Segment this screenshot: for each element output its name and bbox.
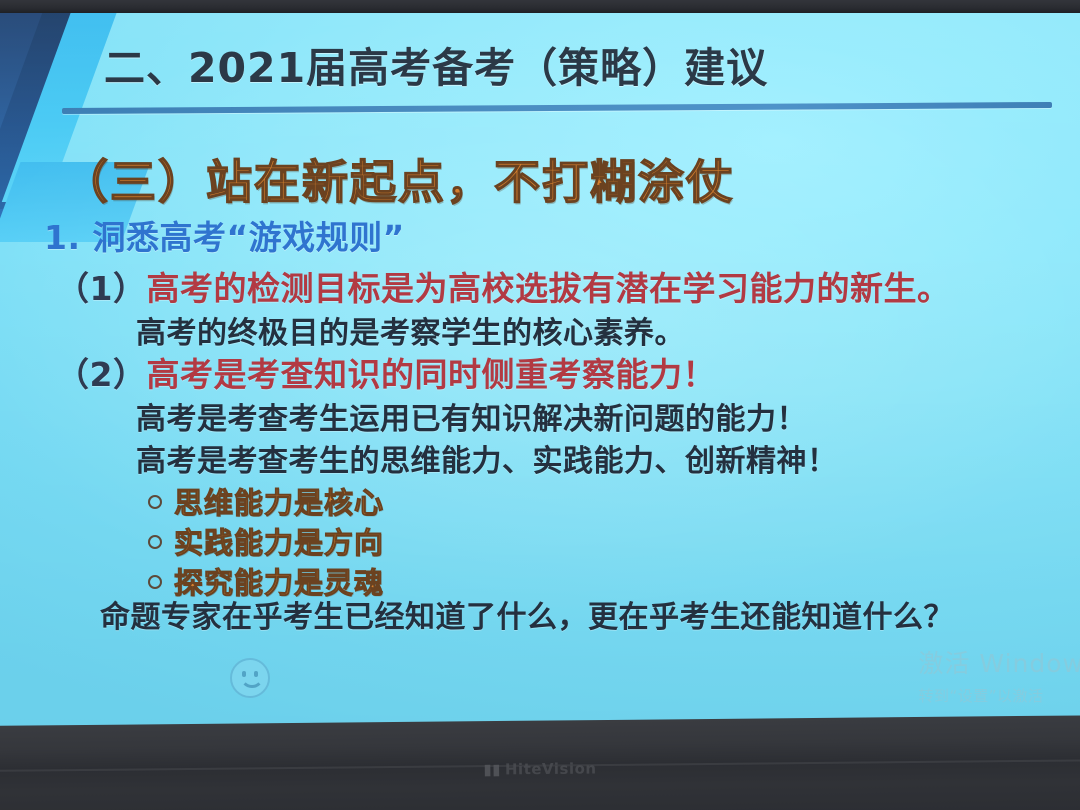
item-marker: （2） bbox=[56, 355, 146, 394]
bullet-circle-icon bbox=[148, 535, 162, 549]
list-item-subtext: 高考是考查考生运用已有知识解决新问题的能力！ bbox=[136, 394, 807, 438]
bullet-item: 思维能力是核心 bbox=[148, 480, 384, 522]
bullet-label: 思维能力是核心 bbox=[174, 486, 384, 520]
activation-subtitle: 转到“设置”以激活 bbox=[918, 685, 1080, 706]
brand-name: HiteVision bbox=[505, 759, 597, 778]
bullet-item: 实践能力是方向 bbox=[148, 520, 384, 562]
list-item: （1）高考的检测目标是为高校选拔有潜在学习能力的新生。 bbox=[56, 262, 950, 310]
bullet-circle-icon bbox=[148, 575, 162, 589]
list-item-subtext: 高考是考查考生的思维能力、实践能力、创新精神！ bbox=[136, 436, 838, 480]
smiley-mouth bbox=[240, 676, 264, 688]
smiley-face-icon bbox=[230, 658, 270, 698]
bullet-circle-icon bbox=[148, 495, 162, 509]
device-bezel-top bbox=[0, 0, 1080, 13]
presentation-slide: 二、2021届高考备考（策略）建议 （三）站在新起点，不打糊涂仗 1. 洞悉高考… bbox=[0, 12, 1080, 734]
closing-statement: 命题专家在乎考生已经知道了什么，更在乎考生还能知道什么？ bbox=[100, 592, 954, 636]
subsection-heading: 1. 洞悉高考“游戏规则” bbox=[44, 211, 405, 259]
brand-mark-icon: ▮▮ bbox=[483, 760, 501, 778]
activation-title: 激活 Windows bbox=[918, 644, 1080, 680]
item-marker: （1） bbox=[56, 269, 146, 308]
list-item: （2）高考是考查知识的同时侧重考察能力！ bbox=[56, 348, 716, 396]
item-text: 高考的检测目标是为高校选拔有潜在学习能力的新生。 bbox=[146, 269, 950, 308]
section-heading: （三）站在新起点，不打糊涂仗 bbox=[62, 146, 734, 212]
bullet-label: 实践能力是方向 bbox=[174, 526, 384, 560]
list-item-subtext: 高考的终极目的是考察学生的核心素养。 bbox=[136, 308, 685, 352]
windows-activation-watermark: 激活 Windows 转到“设置”以激活 bbox=[918, 644, 1080, 706]
item-text: 高考是考查知识的同时侧重考察能力！ bbox=[146, 355, 716, 394]
slide-content: （三）站在新起点，不打糊涂仗 1. 洞悉高考“游戏规则” （1）高考的检测目标是… bbox=[0, 12, 1080, 734]
projection-device: 二、2021届高考备考（策略）建议 （三）站在新起点，不打糊涂仗 1. 洞悉高考… bbox=[0, 0, 1080, 810]
